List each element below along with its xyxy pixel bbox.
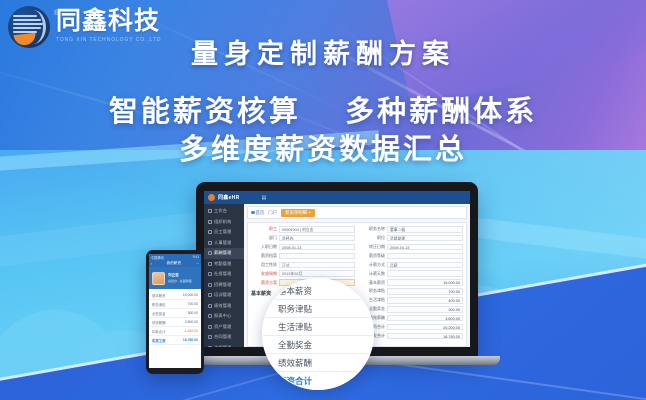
form-row: 计薪天数 xyxy=(359,270,463,277)
field-input[interactable]: 2008-01-13 xyxy=(279,244,355,251)
subtitle-line-2: 多维度薪资数据汇总 xyxy=(0,126,646,168)
subtitle-right: 多种薪酬体系 xyxy=(345,96,537,128)
field-input[interactable] xyxy=(387,253,463,260)
amount-label: 职务津贴 xyxy=(359,288,385,294)
list-item[interactable]: 绩效薪酬3,800.00 xyxy=(149,318,201,327)
phone-nav-title: 我的薪资 xyxy=(167,261,181,266)
brand-name-cn: 同鑫科技 xyxy=(56,9,161,34)
form-row: 发放周期2019年02月 xyxy=(251,270,355,277)
sidebar-item-0[interactable]: 工作台 xyxy=(204,206,244,217)
row-value: 18,760.00 xyxy=(183,338,198,342)
sidebar-item-5[interactable]: 考勤管理 xyxy=(204,259,244,270)
sidebar-item-label: 组织机构 xyxy=(214,219,232,225)
breadcrumb: 门户 xyxy=(268,210,277,216)
sidebar-item-label: 社保管理 xyxy=(214,271,232,277)
amount-value[interactable]: 700.00 xyxy=(387,288,463,295)
form-row: 薪资档案 xyxy=(251,253,355,260)
field-input[interactable]: 00001904 | 刘立志 xyxy=(279,226,355,233)
sidebar-item-10[interactable]: 报表中心 xyxy=(204,311,244,322)
hamburger-icon[interactable]: ▤ xyxy=(262,195,267,201)
field-label: 职务名称 xyxy=(359,226,385,232)
tab-bar: 首页 门户 薪资单明细 × xyxy=(247,206,467,219)
page-title: 量身定制薪酬方案 xyxy=(0,32,646,71)
amount-row: 生活津贴400.00 xyxy=(359,297,463,304)
field-label: 发放周期 xyxy=(251,271,277,277)
row-value: 300.00 xyxy=(188,311,198,315)
field-input[interactable]: 月薪 xyxy=(387,262,463,269)
clock-label: 9:41 xyxy=(193,255,199,259)
field-input[interactable]: 正式 xyxy=(279,262,355,269)
sidebar-item-label: 资产管理 xyxy=(214,324,232,330)
form-row: 入职日期2008-01-13 xyxy=(251,244,355,251)
sidebar-item-9[interactable]: 绩效管理 xyxy=(204,301,244,312)
magnified-item: 绩效薪酬 xyxy=(262,354,374,372)
field-label: 计薪天数 xyxy=(359,271,385,277)
sidebar-item-label: 报表中心 xyxy=(214,313,232,319)
sidebar-item-label: 招聘管理 xyxy=(214,282,232,288)
field-input[interactable]: 2008-04-13 xyxy=(387,244,463,251)
insurance-icon xyxy=(208,272,212,276)
more-icon[interactable]: ⋯ xyxy=(195,262,199,266)
field-label: 用工性质 xyxy=(251,262,277,268)
row-value: 15,000.00 xyxy=(183,293,198,297)
tab-home[interactable]: 首页 xyxy=(251,210,264,216)
amount-row: 基本薪资15,000.00 xyxy=(359,279,463,286)
form-row: 职工00001904 | 刘立志 xyxy=(251,226,355,233)
sidebar-item-3[interactable]: 人事管理 xyxy=(204,238,244,249)
user-name: 刘立志 xyxy=(168,273,192,278)
carrier-label: 中国移动 xyxy=(151,255,164,260)
amount-row: 职务津贴700.00 xyxy=(359,288,463,295)
field-input[interactable]: 2019年02月 xyxy=(279,270,355,277)
sidebar-item-label: 绩效管理 xyxy=(214,303,232,309)
sidebar-item-13[interactable]: 流程管理 xyxy=(204,343,244,348)
phone-screen: 中国移动 9:41 ‹ 我的薪资 ⋯ 刘立志 总经办 · 总裁助理 基本薪资15… xyxy=(149,254,201,368)
field-input[interactable] xyxy=(279,253,355,260)
sidebar-item-label: 人事管理 xyxy=(214,240,232,246)
amount-value[interactable]: 20,200.00 xyxy=(387,324,463,331)
amount-value[interactable]: 3,800.00 xyxy=(387,315,463,322)
phone-salary-list: 基本薪资15,000.00 职务津贴700.00 全勤奖金300.00 绩效薪酬… xyxy=(149,289,201,345)
sidebar-item-6[interactable]: 社保管理 xyxy=(204,269,244,280)
form-row: 部门总经办 xyxy=(251,235,355,242)
amount-row: 全勤奖金300.00 xyxy=(359,306,463,313)
row-label: 实发工资 xyxy=(152,338,166,343)
sidebar-item-11[interactable]: 资产管理 xyxy=(204,322,244,333)
recruit-icon xyxy=(208,283,212,287)
dashboard-icon xyxy=(208,209,212,213)
form-row: 职位总裁助理 xyxy=(359,235,463,242)
form-row: 用工性质正式 xyxy=(251,262,355,269)
phone-profile-card: 刘立志 总经办 · 总裁助理 xyxy=(149,267,201,289)
tab-active[interactable]: 薪资单明细 × xyxy=(281,209,315,217)
row-label: 职务津贴 xyxy=(152,302,166,307)
magnifier-content: 基本薪资 职务津贴 生活津贴 全勤奖金 绩效薪酬 薪资合计 xyxy=(262,278,374,390)
amount-value[interactable]: 400.00 xyxy=(387,297,463,304)
home-icon xyxy=(251,211,255,215)
sidebar-item-label: 员工管理 xyxy=(214,229,232,235)
sidebar-item-label: 考勤管理 xyxy=(214,261,232,267)
amount-row: 薪资合计20,200.00 xyxy=(359,324,463,331)
subtitle-left: 智能薪资核算 xyxy=(109,96,301,128)
field-input[interactable]: 总裁助理 xyxy=(387,235,463,242)
phone-user-identity: 刘立志 总经办 · 总裁助理 xyxy=(168,273,192,284)
sidebar-item-label: 培训管理 xyxy=(214,292,232,298)
performance-icon xyxy=(208,304,212,308)
salary-icon xyxy=(208,251,212,255)
attendance-icon xyxy=(208,262,212,266)
form-column-right: 职务名称董事二级 职位总裁助理 转正日期2008-04-13 薪资等级 计薪方式… xyxy=(359,226,463,343)
field-label: 部门 xyxy=(251,235,277,241)
back-arrow-icon[interactable]: ‹ xyxy=(151,262,152,266)
subtitle-line-1: 智能薪资核算 多种薪酬体系 xyxy=(0,88,646,130)
sidebar-item-label: 薪酬管理 xyxy=(214,250,232,256)
amount-row: 实发合计18,760.00 xyxy=(359,333,463,340)
phone-mockup: 中国移动 9:41 ‹ 我的薪资 ⋯ 刘立志 总经办 · 总裁助理 基本薪资15… xyxy=(146,250,204,374)
row-label: 绩效薪酬 xyxy=(152,320,166,325)
app-sidebar: 工作台 组织机构 员工管理 人事管理 薪酬管理 考勤管理 社保管理 招聘管理 培… xyxy=(204,204,244,347)
field-label: 职工 xyxy=(251,226,277,232)
list-item[interactable]: 基本薪资15,000.00 xyxy=(149,291,201,300)
field-input[interactable] xyxy=(387,270,463,277)
list-item-total[interactable]: 实发工资18,760.00 xyxy=(149,336,201,345)
field-label: 转正日期 xyxy=(359,244,385,250)
field-label: 职位 xyxy=(359,235,385,241)
row-value: 3,800.00 xyxy=(185,320,198,324)
sidebar-item-12[interactable]: 合同管理 xyxy=(204,332,244,343)
app-logo-icon xyxy=(208,194,215,201)
training-icon xyxy=(208,293,212,297)
row-value: 700.00 xyxy=(188,302,198,306)
row-label: 基本薪资 xyxy=(152,293,166,298)
list-item[interactable]: 全勤奖金300.00 xyxy=(149,309,201,318)
contract-icon xyxy=(208,335,212,339)
magnified-item: 全勤奖金 xyxy=(262,336,374,354)
magnified-item: 职务津贴 xyxy=(262,300,374,318)
staff-icon xyxy=(208,230,212,234)
app-header: 同鑫eHR ▤ xyxy=(204,191,470,204)
list-item[interactable]: 扣款合计-1,440.00 xyxy=(149,327,201,336)
sidebar-item-label: 工作台 xyxy=(214,208,227,214)
hr-icon xyxy=(208,241,212,245)
org-icon xyxy=(208,220,212,224)
report-icon xyxy=(208,314,212,318)
sidebar-item-7[interactable]: 招聘管理 xyxy=(204,280,244,291)
row-label: 扣款合计 xyxy=(152,329,166,334)
form-row: 转正日期2008-04-13 xyxy=(359,244,463,251)
field-input[interactable]: 董事二级 xyxy=(387,226,463,233)
magnifier-lens: 基本薪资 职务津贴 生活津贴 全勤奖金 绩效薪酬 薪资合计 xyxy=(262,278,374,390)
form-row: 职务名称董事二级 xyxy=(359,226,463,233)
amount-value[interactable]: 300.00 xyxy=(387,306,463,313)
amount-value[interactable]: 18,760.00 xyxy=(387,333,463,340)
row-label: 全勤奖金 xyxy=(152,311,166,316)
row-value: -1,440.00 xyxy=(184,329,198,333)
sidebar-item-label: 合同管理 xyxy=(214,334,232,340)
promo-banner: 同鑫科技 TONG XIN TECHNOLOGY CO.,LTD ® 量身定制薪… xyxy=(0,0,646,400)
list-item[interactable]: 职务津贴700.00 xyxy=(149,300,201,309)
user-meta: 总经办 · 总裁助理 xyxy=(168,279,192,283)
field-label: 薪资方案 xyxy=(251,280,277,286)
sidebar-item-8[interactable]: 培训管理 xyxy=(204,290,244,301)
amount-label: 基本薪资 xyxy=(359,280,385,286)
sidebar-item-1[interactable]: 组织机构 xyxy=(204,217,244,228)
field-label: 入职日期 xyxy=(251,244,277,250)
close-icon[interactable]: × xyxy=(308,210,311,215)
field-input[interactable]: 总经办 xyxy=(279,235,355,242)
phone-nav-bar: ‹ 我的薪资 ⋯ xyxy=(149,260,201,267)
app-title: 同鑫eHR xyxy=(218,194,240,201)
form-row: 计薪方式月薪 xyxy=(359,262,463,269)
magnified-item: 生活津贴 xyxy=(262,318,374,336)
flow-icon xyxy=(208,346,212,347)
sidebar-item-label: 流程管理 xyxy=(214,345,232,347)
registered-mark-icon: ® xyxy=(54,10,59,17)
form-row: 薪资等级 xyxy=(359,253,463,260)
sidebar-item-2[interactable]: 员工管理 xyxy=(204,227,244,238)
sidebar-item-4[interactable]: 薪酬管理 xyxy=(204,248,244,259)
amount-value[interactable]: 15,000.00 xyxy=(387,279,463,286)
field-label: 薪资等级 xyxy=(359,253,385,259)
field-label: 计薪方式 xyxy=(359,262,385,268)
amount-row: 绩效薪酬3,800.00 xyxy=(359,315,463,322)
asset-icon xyxy=(208,325,212,329)
avatar-icon xyxy=(152,272,165,285)
field-label: 薪资档案 xyxy=(251,253,277,259)
